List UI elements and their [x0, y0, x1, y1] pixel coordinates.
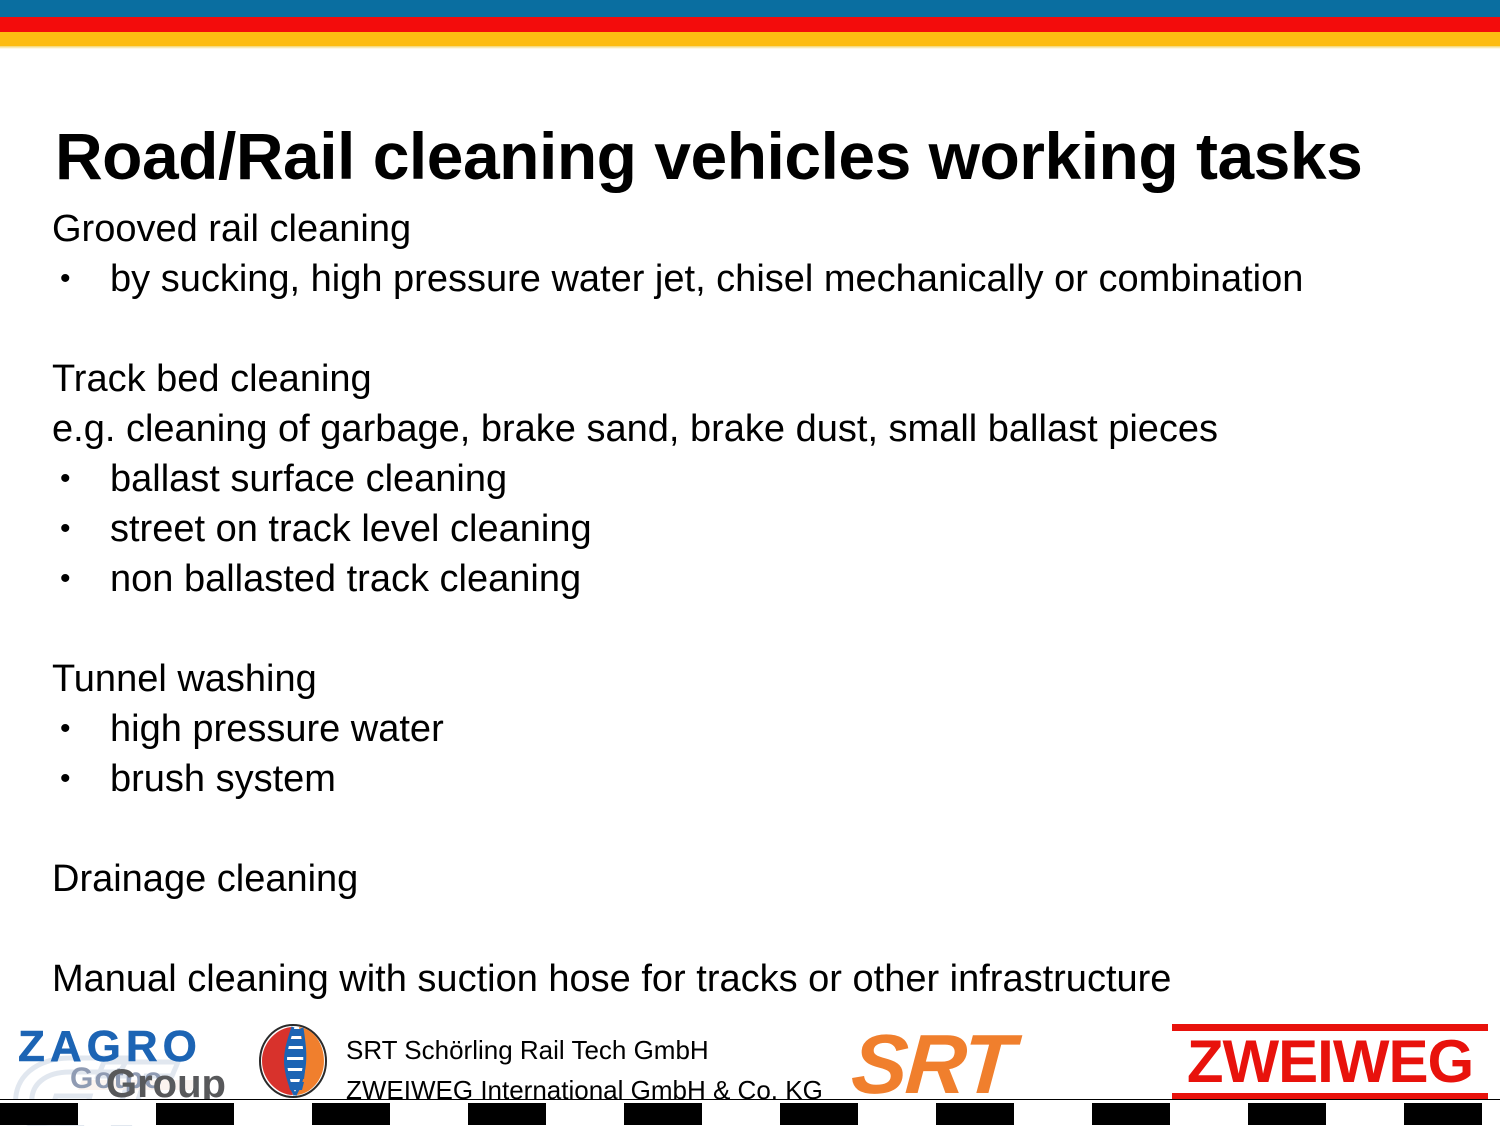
page-title: Road/Rail cleaning vehicles working task…	[55, 122, 1455, 191]
stripe-fade	[0, 46, 1500, 49]
bullet-icon: •	[52, 704, 110, 754]
spacer	[52, 804, 1462, 854]
company-line-1: SRT Schörling Rail Tech GmbH	[346, 1030, 823, 1070]
zweiweg-wordmark: ZWEIWEG	[1172, 1031, 1488, 1093]
bullet-icon: •	[52, 554, 110, 604]
spacer	[52, 604, 1462, 654]
bullet-icon: •	[52, 504, 110, 554]
stripe-red	[0, 17, 1500, 32]
srt-circular-emblem-icon	[258, 1024, 328, 1098]
zagro-group-logo: Gotpo ZAGRO Group	[8, 1018, 248, 1103]
list-item: • non ballasted track cleaning	[52, 554, 1462, 604]
checkered-bottom-bar	[0, 1100, 1500, 1125]
section-heading-grooved-rail-cleaning: Grooved rail cleaning	[52, 204, 1462, 254]
list-item: • high pressure water	[52, 704, 1462, 754]
section-heading-track-bed-cleaning: Track bed cleaning	[52, 354, 1462, 404]
top-color-bar	[0, 0, 1500, 48]
company-names: SRT Schörling Rail Tech GmbH ZWEIWEG Int…	[346, 1030, 823, 1110]
spacer	[52, 904, 1462, 954]
section-heading-tunnel-washing: Tunnel washing	[52, 654, 1462, 704]
footer-logo-bar: Gotpo ZAGRO Group SRT Schörling Rail Tec…	[0, 1018, 1500, 1103]
bullet-icon: •	[52, 754, 110, 804]
section-heading-drainage-cleaning: Drainage cleaning	[52, 854, 1462, 904]
list-item-label: street on track level cleaning	[110, 504, 592, 554]
list-item-label: non ballasted track cleaning	[110, 554, 581, 604]
zweiweg-logo: ZWEIWEG	[1172, 1024, 1488, 1100]
stripe-yellow	[0, 32, 1500, 46]
section-heading-manual-cleaning: Manual cleaning with suction hose for tr…	[52, 954, 1462, 1004]
list-item: • ballast surface cleaning	[52, 454, 1462, 504]
list-item: • by sucking, high pressure water jet, c…	[52, 254, 1462, 304]
list-item-label: ballast surface cleaning	[110, 454, 507, 504]
list-item: • street on track level cleaning	[52, 504, 1462, 554]
bullet-icon: •	[52, 454, 110, 504]
spacer	[52, 304, 1462, 354]
stripe-blue	[0, 0, 1500, 17]
slide-body: Grooved rail cleaning • by sucking, high…	[52, 204, 1462, 1004]
list-item-label: brush system	[110, 754, 336, 804]
list-item-label: by sucking, high pressure water jet, chi…	[110, 254, 1303, 304]
list-item: • brush system	[52, 754, 1462, 804]
list-item-label: high pressure water	[110, 704, 444, 754]
bullet-icon: •	[52, 254, 110, 304]
section-subline-track-bed-cleaning: e.g. cleaning of garbage, brake sand, br…	[52, 404, 1462, 454]
